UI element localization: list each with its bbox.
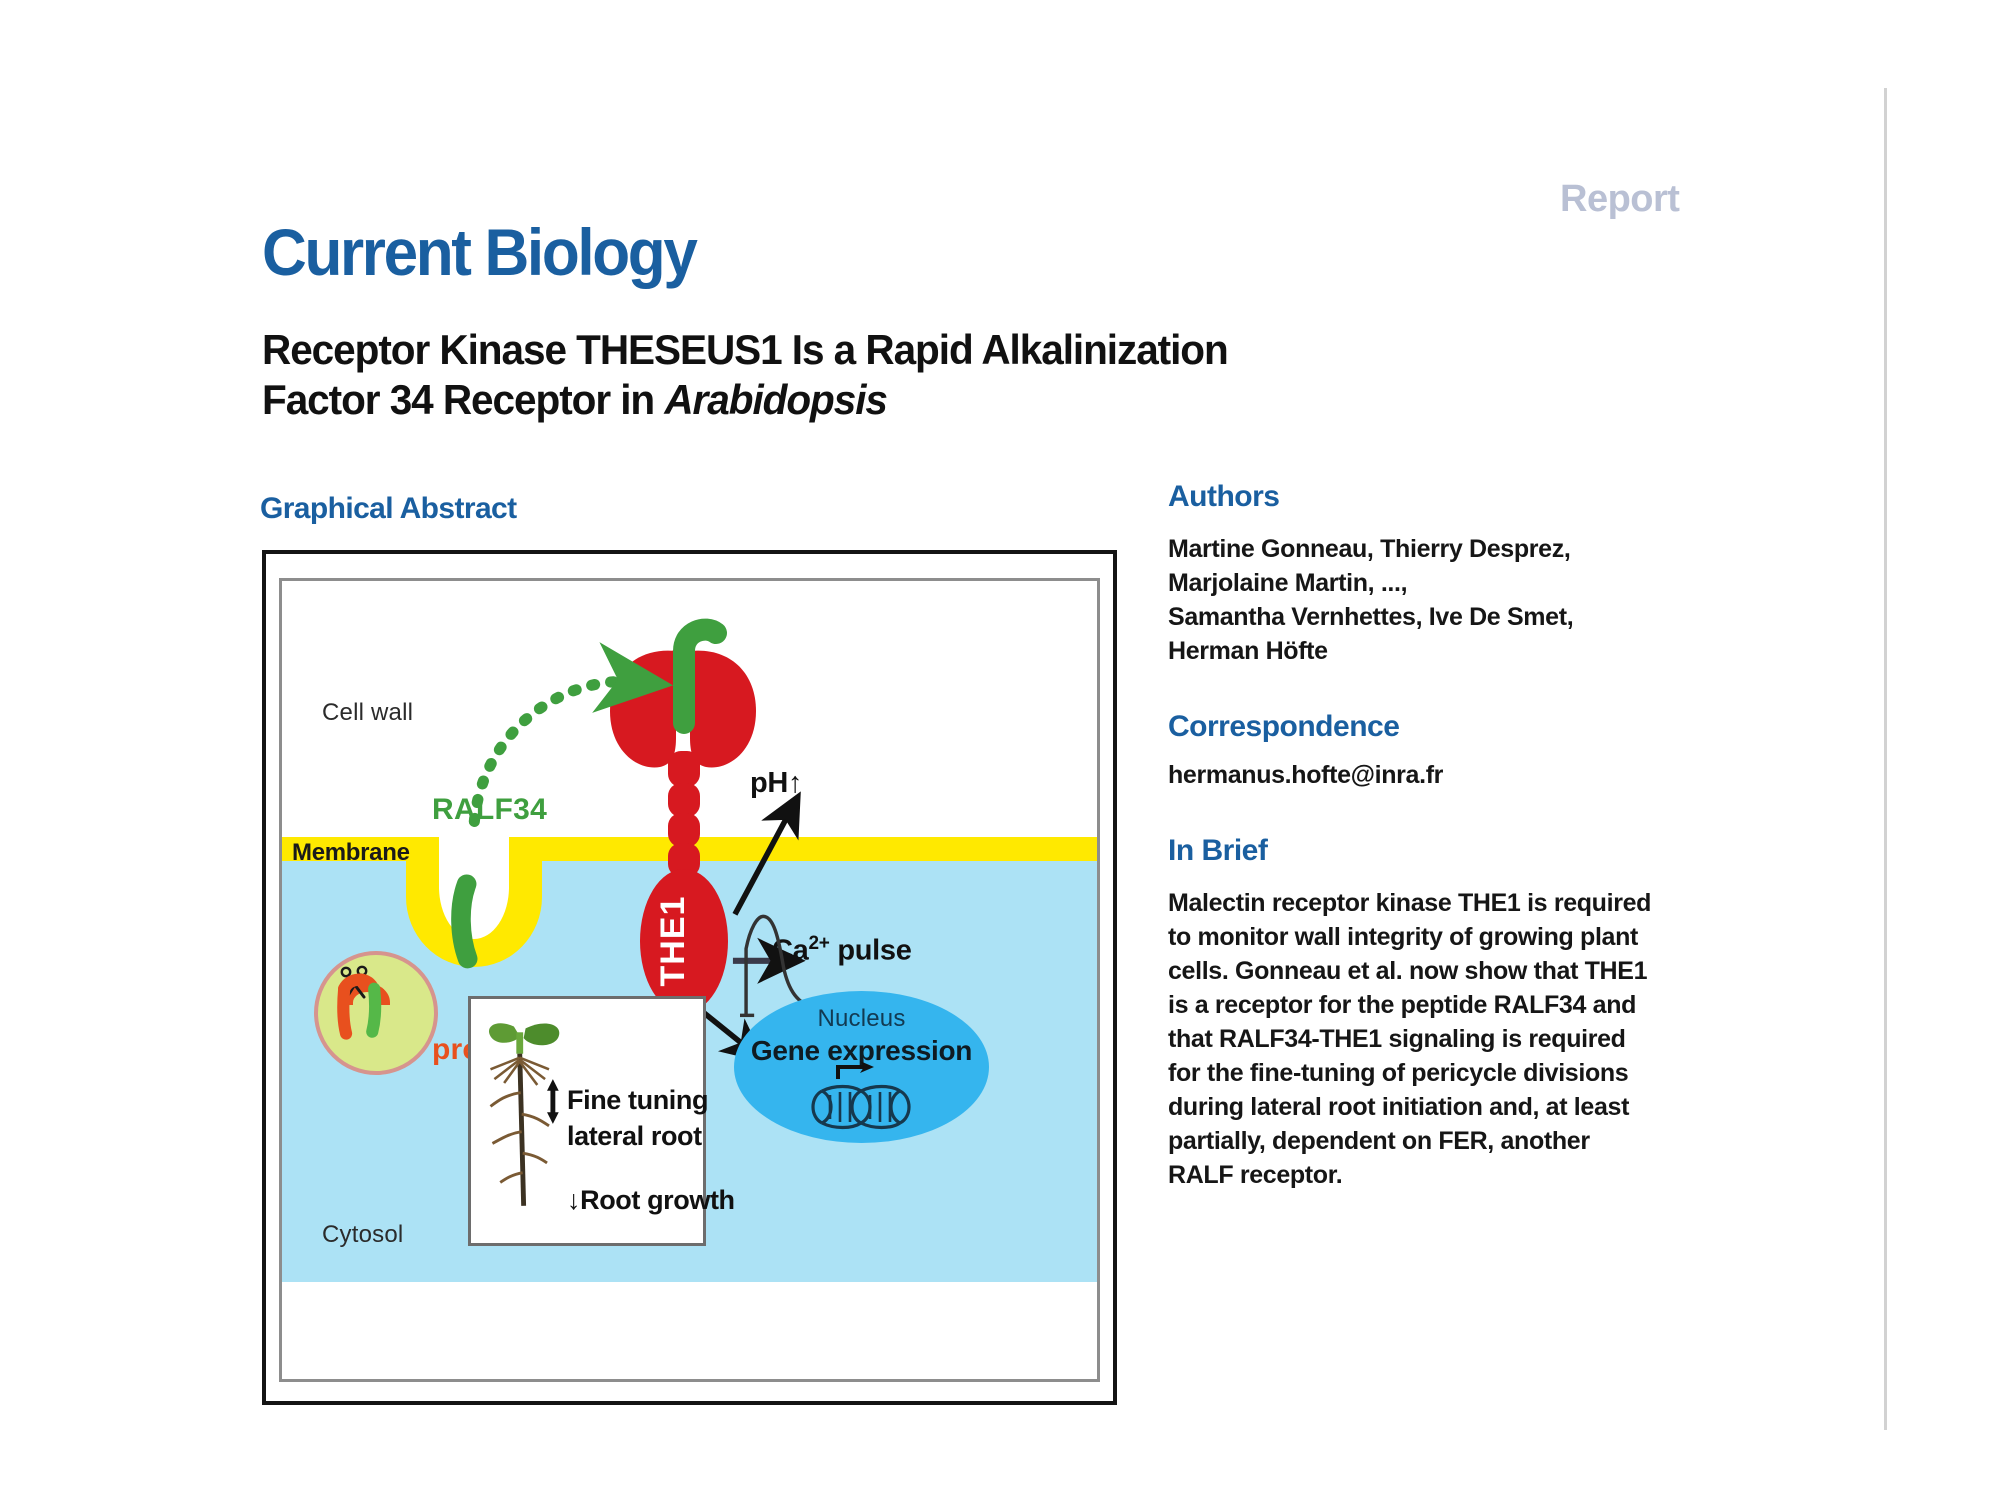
page-root: Report Current Biology Receptor Kinase T… — [0, 0, 2000, 1500]
author-line: Samantha Vernhettes, Ive De Smet, — [1168, 600, 1768, 634]
in-brief-heading: In Brief — [1168, 834, 1768, 868]
author-line: Martine Gonneau, Thierry Desprez, — [1168, 532, 1768, 566]
in-brief-line: to monitor wall integrity of growing pla… — [1168, 920, 1768, 954]
label-gene-expression: Gene expression — [734, 1035, 989, 1067]
in-brief-line: partially, dependent on FER, another — [1168, 1124, 1768, 1158]
authors-heading: Authors — [1168, 480, 1768, 514]
phenotype-box: Fine tuning lateral root ↓Root growth — [468, 996, 706, 1246]
label-nucleus: Nucleus — [734, 1005, 989, 1033]
label-calcium-pulse: Ca2+ pulse — [772, 933, 912, 968]
label-root-growth: ↓Root growth — [567, 1185, 735, 1216]
the1-receptor: THE1 — [598, 611, 768, 1061]
label-membrane: Membrane — [292, 839, 410, 867]
label-ca-symbol: Ca — [772, 935, 808, 967]
in-brief-line: cells. Gonneau et al. now show that THE1 — [1168, 954, 1768, 988]
in-brief-line: RALF receptor. — [1168, 1158, 1768, 1192]
graphical-abstract-canvas: Cell wall Membrane Cytosol RALF34 proRAL… — [279, 578, 1100, 1382]
article-title-line1: Receptor Kinase THESEUS1 Is a Rapid Alka… — [262, 326, 1228, 373]
nucleus-shape: Nucleus Gene expression — [734, 991, 989, 1143]
pit-lumen — [439, 837, 509, 939]
graphical-abstract-heading: Graphical Abstract — [260, 492, 517, 526]
label-ca-word: pulse — [830, 935, 912, 967]
label-ca-charge: 2+ — [808, 933, 829, 954]
metadata-column: Authors Martine Gonneau, Thierry Desprez… — [1168, 480, 1768, 1192]
in-brief-line: is a receptor for the peptide RALF34 and — [1168, 988, 1768, 1022]
scissors-icon — [338, 965, 382, 1009]
membrane-invagination — [406, 837, 542, 967]
in-brief-line: Malectin receptor kinase THE1 is require… — [1168, 886, 1768, 920]
author-line: Herman Höfte — [1168, 634, 1768, 668]
svg-text:THE1: THE1 — [654, 896, 692, 987]
authors-list: Martine Gonneau, Thierry Desprez, Marjol… — [1168, 532, 1768, 668]
in-brief-line: for the fine-tuning of pericycle divisio… — [1168, 1056, 1768, 1090]
correspondence-email[interactable]: hermanus.hofte@inra.fr — [1168, 758, 1768, 792]
correspondence-heading: Correspondence — [1168, 710, 1768, 744]
graphical-abstract-frame: Cell wall Membrane Cytosol RALF34 proRAL… — [262, 550, 1117, 1405]
secretory-vesicle — [314, 951, 438, 1075]
in-brief-line: during lateral root initiation and, at l… — [1168, 1090, 1768, 1124]
label-ralf34: RALF34 — [432, 793, 547, 827]
label-cytosol: Cytosol — [322, 1221, 403, 1249]
label-lateral-root: lateral root — [567, 1121, 702, 1152]
article-title-line2: Factor 34 Receptor in — [262, 376, 664, 423]
in-brief-line: that RALF34-THE1 signaling is required — [1168, 1022, 1768, 1056]
in-brief-text: Malectin receptor kinase THE1 is require… — [1168, 886, 1768, 1192]
article-title: Receptor Kinase THESEUS1 Is a Rapid Alka… — [262, 325, 1729, 426]
article-type-tag: Report — [1560, 178, 1679, 221]
label-fine-tuning: Fine tuning — [567, 1085, 708, 1116]
label-cell-wall: Cell wall — [322, 699, 413, 727]
journal-title: Current Biology — [262, 214, 696, 290]
article-title-species: Arabidopsis — [664, 376, 887, 423]
page-divider-rule — [1884, 88, 1887, 1430]
author-line: Marjolaine Martin, ..., — [1168, 566, 1768, 600]
